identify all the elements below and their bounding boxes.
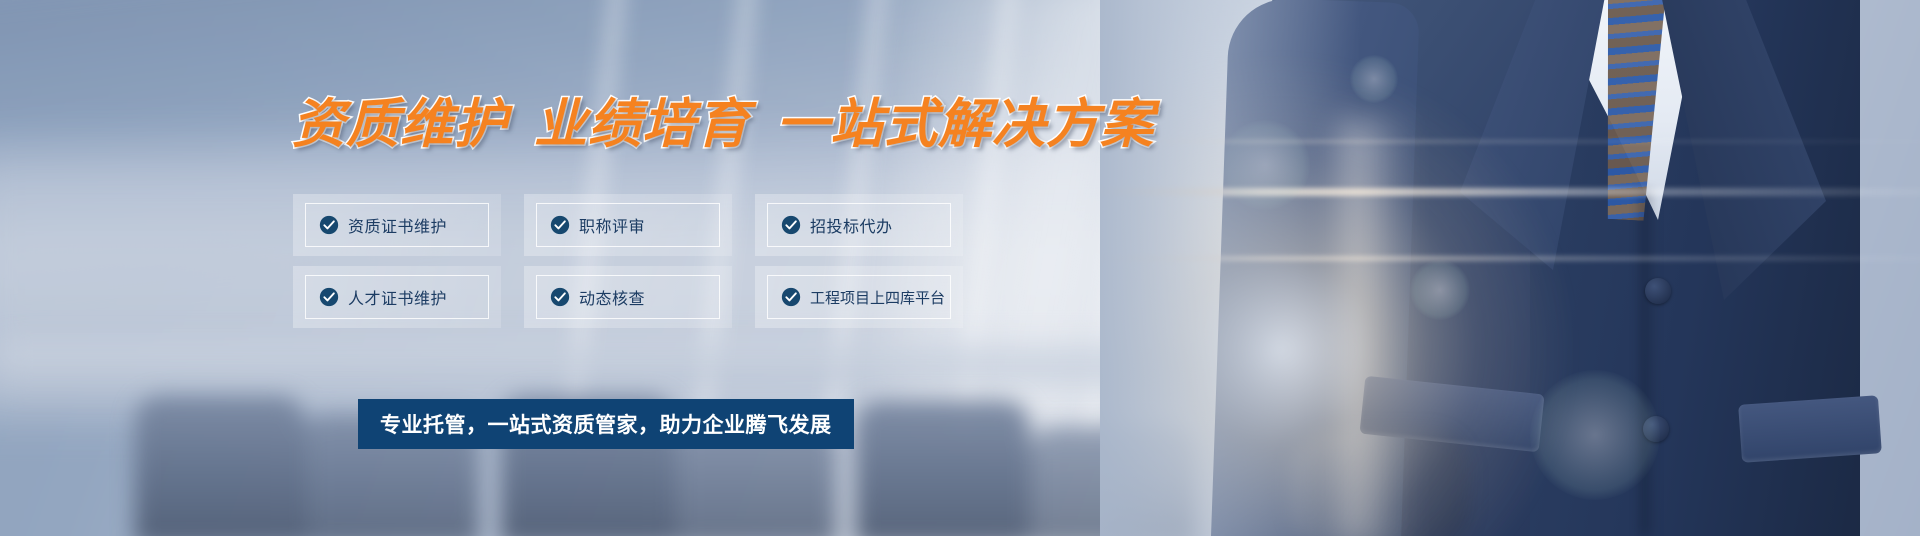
tagline-bar: 专业托管，一站式资质管家，助力企业腾飞发展 (358, 399, 854, 449)
banner-headline: 资质维护业绩培育一站式解决方案 (292, 82, 1154, 158)
feature-card-inner: 招投标代办 (767, 203, 951, 247)
feature-card-label: 招投标代办 (810, 213, 893, 237)
feature-card-dynamic-inspection[interactable]: 动态核查 (524, 266, 732, 328)
feature-card-bidding-agency[interactable]: 招投标代办 (755, 194, 963, 256)
headline-part-2: 业绩培育 (534, 94, 750, 155)
feature-card-talent-certificate[interactable]: 人才证书维护 (293, 266, 501, 328)
check-circle-icon (781, 215, 801, 235)
feature-card-inner: 资质证书维护 (305, 203, 489, 247)
feature-card-grid: 资质证书维护 职称评审 招投标代办 (293, 194, 963, 328)
tagline-text: 专业托管，一站式资质管家，助力企业腾飞发展 (380, 409, 832, 439)
feature-card-label: 职称评审 (579, 213, 645, 237)
feature-card-four-database-platform[interactable]: 工程项目上四库平台 (755, 266, 963, 328)
banner-content: 资质维护业绩培育一站式解决方案 资质证书维护 职称评审 (0, 0, 1920, 536)
feature-card-inner: 职称评审 (536, 203, 720, 247)
check-circle-icon (319, 287, 339, 307)
check-circle-icon (550, 215, 570, 235)
feature-card-label: 人才证书维护 (348, 285, 447, 309)
check-circle-icon (781, 287, 801, 307)
check-circle-icon (319, 215, 339, 235)
feature-card-inner: 人才证书维护 (305, 275, 489, 319)
headline-part-1: 资质维护 (292, 94, 508, 155)
feature-card-inner: 动态核查 (536, 275, 720, 319)
feature-card-qualification-certificate[interactable]: 资质证书维护 (293, 194, 501, 256)
check-circle-icon (550, 287, 570, 307)
feature-card-title-evaluation[interactable]: 职称评审 (524, 194, 732, 256)
headline-part-3: 一站式解决方案 (776, 94, 1154, 155)
feature-card-label: 工程项目上四库平台 (810, 287, 945, 308)
feature-card-inner: 工程项目上四库平台 (767, 275, 951, 319)
feature-card-label: 动态核查 (579, 285, 645, 309)
promo-banner: 资质维护业绩培育一站式解决方案 资质证书维护 职称评审 (0, 0, 1920, 536)
feature-card-label: 资质证书维护 (348, 213, 447, 237)
